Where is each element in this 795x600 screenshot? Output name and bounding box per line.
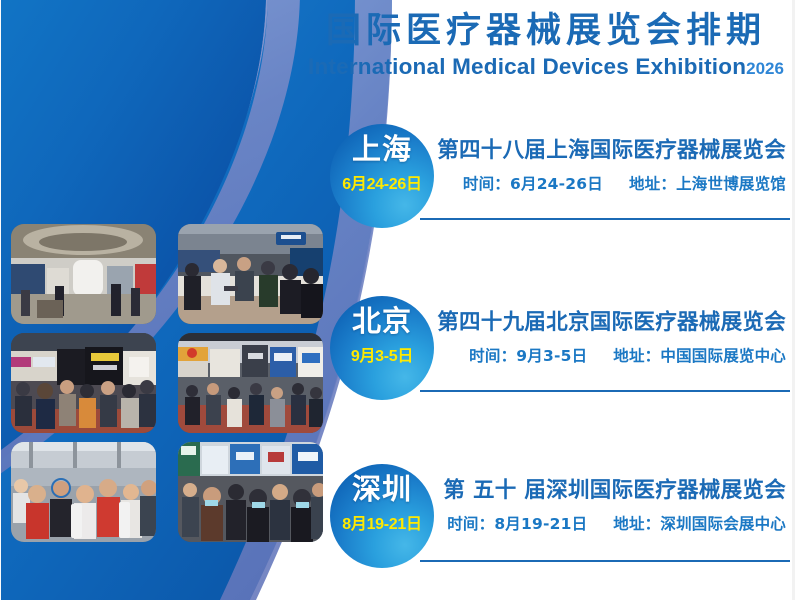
event-name: 第四十八届上海国际医疗器械展览会: [434, 138, 786, 165]
exhibition-photo-4: [178, 333, 323, 433]
event-address-label: 地址：: [629, 175, 676, 193]
city-badge-shanghai[interactable]: 上海 6月24-26日: [330, 124, 434, 228]
badge-city-label: 深圳: [330, 475, 434, 504]
event-time-value: 6月24-26日: [510, 175, 603, 193]
badge-date-label: 9月3-5日: [330, 348, 434, 366]
city-badge-beijing[interactable]: 北京 9月3-5日: [330, 296, 434, 400]
photo-grid: [11, 224, 323, 542]
exhibition-photo-3: [11, 333, 156, 433]
event-time-label: 时间：: [447, 515, 494, 533]
exhibition-photo-2: [178, 224, 323, 324]
photo-thumbnail: [11, 442, 156, 542]
photo-thumbnail: [11, 333, 156, 433]
event-name: 第 五十 届深圳国际医疗器械展览会: [434, 478, 786, 505]
city-badge-shenzhen[interactable]: 深圳 8月19-21日: [330, 464, 434, 568]
photo-thumbnail: [178, 333, 323, 433]
event-name: 第四十九届北京国际医疗器械展览会: [434, 310, 786, 337]
event-divider: [420, 560, 790, 562]
badge-date-label: 8月19-21日: [330, 516, 434, 534]
poster-header: 国际医疗器械展览会排期 International Medical Device…: [300, 10, 792, 79]
event-text-block: 第四十九届北京国际医疗器械展览会 时间：9月3-5日地址：中国国际展览中心: [434, 310, 786, 366]
exhibition-photo-5: [11, 442, 156, 542]
event-address-label: 地址：: [613, 515, 660, 533]
event-meta: 时间：6月24-26日地址：上海世博展览馆: [434, 172, 786, 194]
event-text-block: 第四十八届上海国际医疗器械展览会 时间：6月24-26日地址：上海世博展览馆: [434, 138, 786, 194]
badge-city-label: 北京: [330, 307, 434, 336]
event-time-value: 8月19-21日: [494, 515, 587, 533]
photo-thumbnail: [11, 224, 156, 324]
page-title-year: 2026: [746, 59, 784, 78]
exhibition-photo-6: [178, 442, 323, 542]
page-title-cn: 国际医疗器械展览会排期: [300, 10, 792, 53]
badge-date-label: 6月24-26日: [330, 176, 434, 194]
event-time-value: 9月3-5日: [516, 347, 587, 365]
event-address-label: 地址：: [613, 347, 660, 365]
event-time-label: 时间：: [463, 175, 510, 193]
event-address-value: 上海世博展览馆: [676, 175, 786, 193]
exhibition-photo-1: [11, 224, 156, 324]
event-divider: [420, 390, 790, 392]
event-meta: 时间：9月3-5日地址：中国国际展览中心: [434, 344, 786, 366]
poster-canvas: 国际医疗器械展览会排期 International Medical Device…: [0, 0, 795, 600]
event-time-label: 时间：: [469, 347, 516, 365]
event-meta: 时间：8月19-21日地址：深圳国际会展中心: [434, 512, 786, 534]
event-address-value: 中国国际展览中心: [660, 347, 786, 365]
page-title-en: International Medical Devices Exhibition: [308, 54, 746, 79]
badge-city-label: 上海: [330, 135, 434, 164]
photo-thumbnail: [178, 224, 323, 324]
event-divider: [420, 218, 790, 220]
event-address-value: 深圳国际会展中心: [660, 515, 786, 533]
event-text-block: 第 五十 届深圳国际医疗器械展览会 时间：8月19-21日地址：深圳国际会展中心: [434, 478, 786, 534]
photo-thumbnail: [178, 442, 323, 542]
page-title-en-wrap: International Medical Devices Exhibition…: [300, 55, 792, 80]
